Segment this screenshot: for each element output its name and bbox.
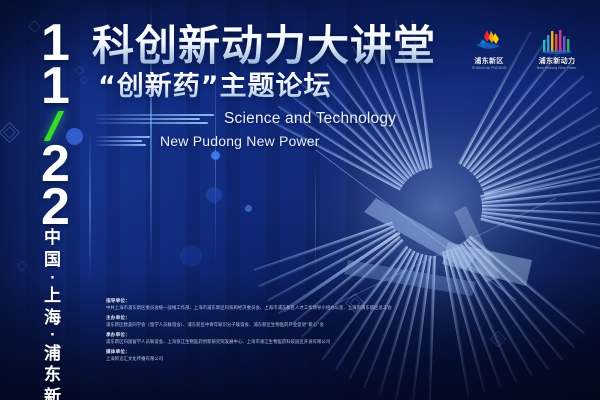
location-char: 东 bbox=[44, 365, 62, 387]
logo-subtitle: New Pudong New Power bbox=[537, 66, 577, 70]
sponsor-group: 主办单位： 浦东新区欧美同学会（留学人员联谊会）、浦东新区中青年知识分子联谊会、… bbox=[106, 316, 406, 330]
location-char: · bbox=[50, 272, 56, 286]
logo-shanghai-pudong: 浦东新区 SHANGHAI PUDONG bbox=[462, 28, 516, 70]
diamond-decoration-icon bbox=[16, 260, 27, 271]
english-title-row-2: New Pudong New Power bbox=[92, 133, 436, 149]
english-title-line-1: Science and Technology bbox=[224, 110, 396, 128]
logo-name: 浦东新动力 bbox=[539, 56, 576, 66]
location-char: 新 bbox=[44, 387, 62, 400]
event-poster: 1 1 2 2 中 国 · 上 海 · 浦 东 新 区 科创新动力大讲堂 “创新… bbox=[0, 0, 600, 400]
event-date-block: 1 1 2 2 bbox=[24, 22, 86, 229]
sponsor-body: 浦东新区归国留学人员联谊会、上海张江生物医药创新研究院发展中心、上海市张江生物医… bbox=[106, 340, 406, 347]
sponsor-label: 承办单位： bbox=[106, 333, 406, 340]
headline-block: 科创新动力大讲堂 “创新药”主题论坛 Science and Technolog… bbox=[92, 24, 436, 149]
green-slash-icon bbox=[43, 111, 69, 141]
logo-group: 浦东新区 SHANGHAI PUDONG 浦东新动力 New Pudong Ne… bbox=[462, 28, 584, 70]
logo-name: 浦东新区 bbox=[474, 56, 503, 66]
english-title-row-1: Science and Technology bbox=[92, 110, 436, 128]
english-title-line-2: New Pudong New Power bbox=[160, 133, 320, 149]
diamond-decoration-icon bbox=[0, 122, 20, 143]
logo-subtitle: SHANGHAI PUDONG bbox=[472, 66, 507, 70]
sponsor-body: 上海新远汇文化传播有限公司 bbox=[106, 357, 406, 364]
decorative-lines bbox=[96, 114, 214, 124]
location-char: · bbox=[50, 329, 56, 343]
bokeh-dot bbox=[180, 245, 202, 267]
event-location-vertical: 中 国 · 上 海 · 浦 东 新 区 bbox=[30, 228, 76, 400]
location-char: 中 bbox=[44, 228, 62, 250]
date-digit-day-2: 2 bbox=[41, 186, 69, 229]
location-char: 海 bbox=[44, 308, 62, 330]
location-char: 国 bbox=[44, 250, 62, 272]
new-pudong-new-power-bars-logo-icon bbox=[540, 28, 574, 54]
logo-new-pudong-new-power: 浦东新动力 New Pudong New Power bbox=[530, 28, 584, 70]
location-char: 浦 bbox=[44, 344, 62, 366]
location-char: 上 bbox=[44, 286, 62, 308]
sponsor-group: 指导单位： 中共上海市浦东新区委员会统一战线工作部、上海市浦东新区科技和经济委员… bbox=[106, 299, 406, 313]
sponsor-label: 主办单位： bbox=[106, 316, 406, 323]
sponsor-label: 媒体单位： bbox=[106, 350, 406, 357]
decorative-lines bbox=[96, 136, 150, 146]
sponsor-label: 指导单位： bbox=[106, 299, 406, 306]
bokeh-dot bbox=[245, 205, 252, 212]
sponsor-body: 浦东新区欧美同学会（留学人员联谊会）、浦东新区中青年知识分子联谊会、浦东新区生物… bbox=[106, 323, 406, 330]
bokeh-dot bbox=[211, 151, 220, 160]
sponsor-group: 媒体单位： 上海新远汇文化传播有限公司 bbox=[106, 350, 406, 364]
page-title: 科创新动力大讲堂 bbox=[92, 24, 436, 68]
date-digit-month-2: 1 bbox=[41, 65, 69, 108]
sponsor-group: 承办单位： 浦东新区归国留学人员联谊会、上海张江生物医药创新研究院发展中心、上海… bbox=[106, 333, 406, 347]
page-subtitle: “创新药”主题论坛 bbox=[92, 72, 436, 102]
bokeh-dot bbox=[206, 187, 222, 203]
sponsor-credits: 指导单位： 中共上海市浦东新区委员会统一战线工作部、上海市浦东新区科技和经济委员… bbox=[106, 299, 406, 367]
diamond-decoration-icon bbox=[490, 331, 507, 348]
light-beam bbox=[89, 130, 91, 280]
sponsor-body: 中共上海市浦东新区委员会统一战线工作部、上海市浦东新区科技和经济委员会、上海市浦… bbox=[106, 306, 406, 313]
light-beam bbox=[315, 160, 316, 280]
shanghai-pudong-flame-logo-icon bbox=[474, 28, 504, 54]
